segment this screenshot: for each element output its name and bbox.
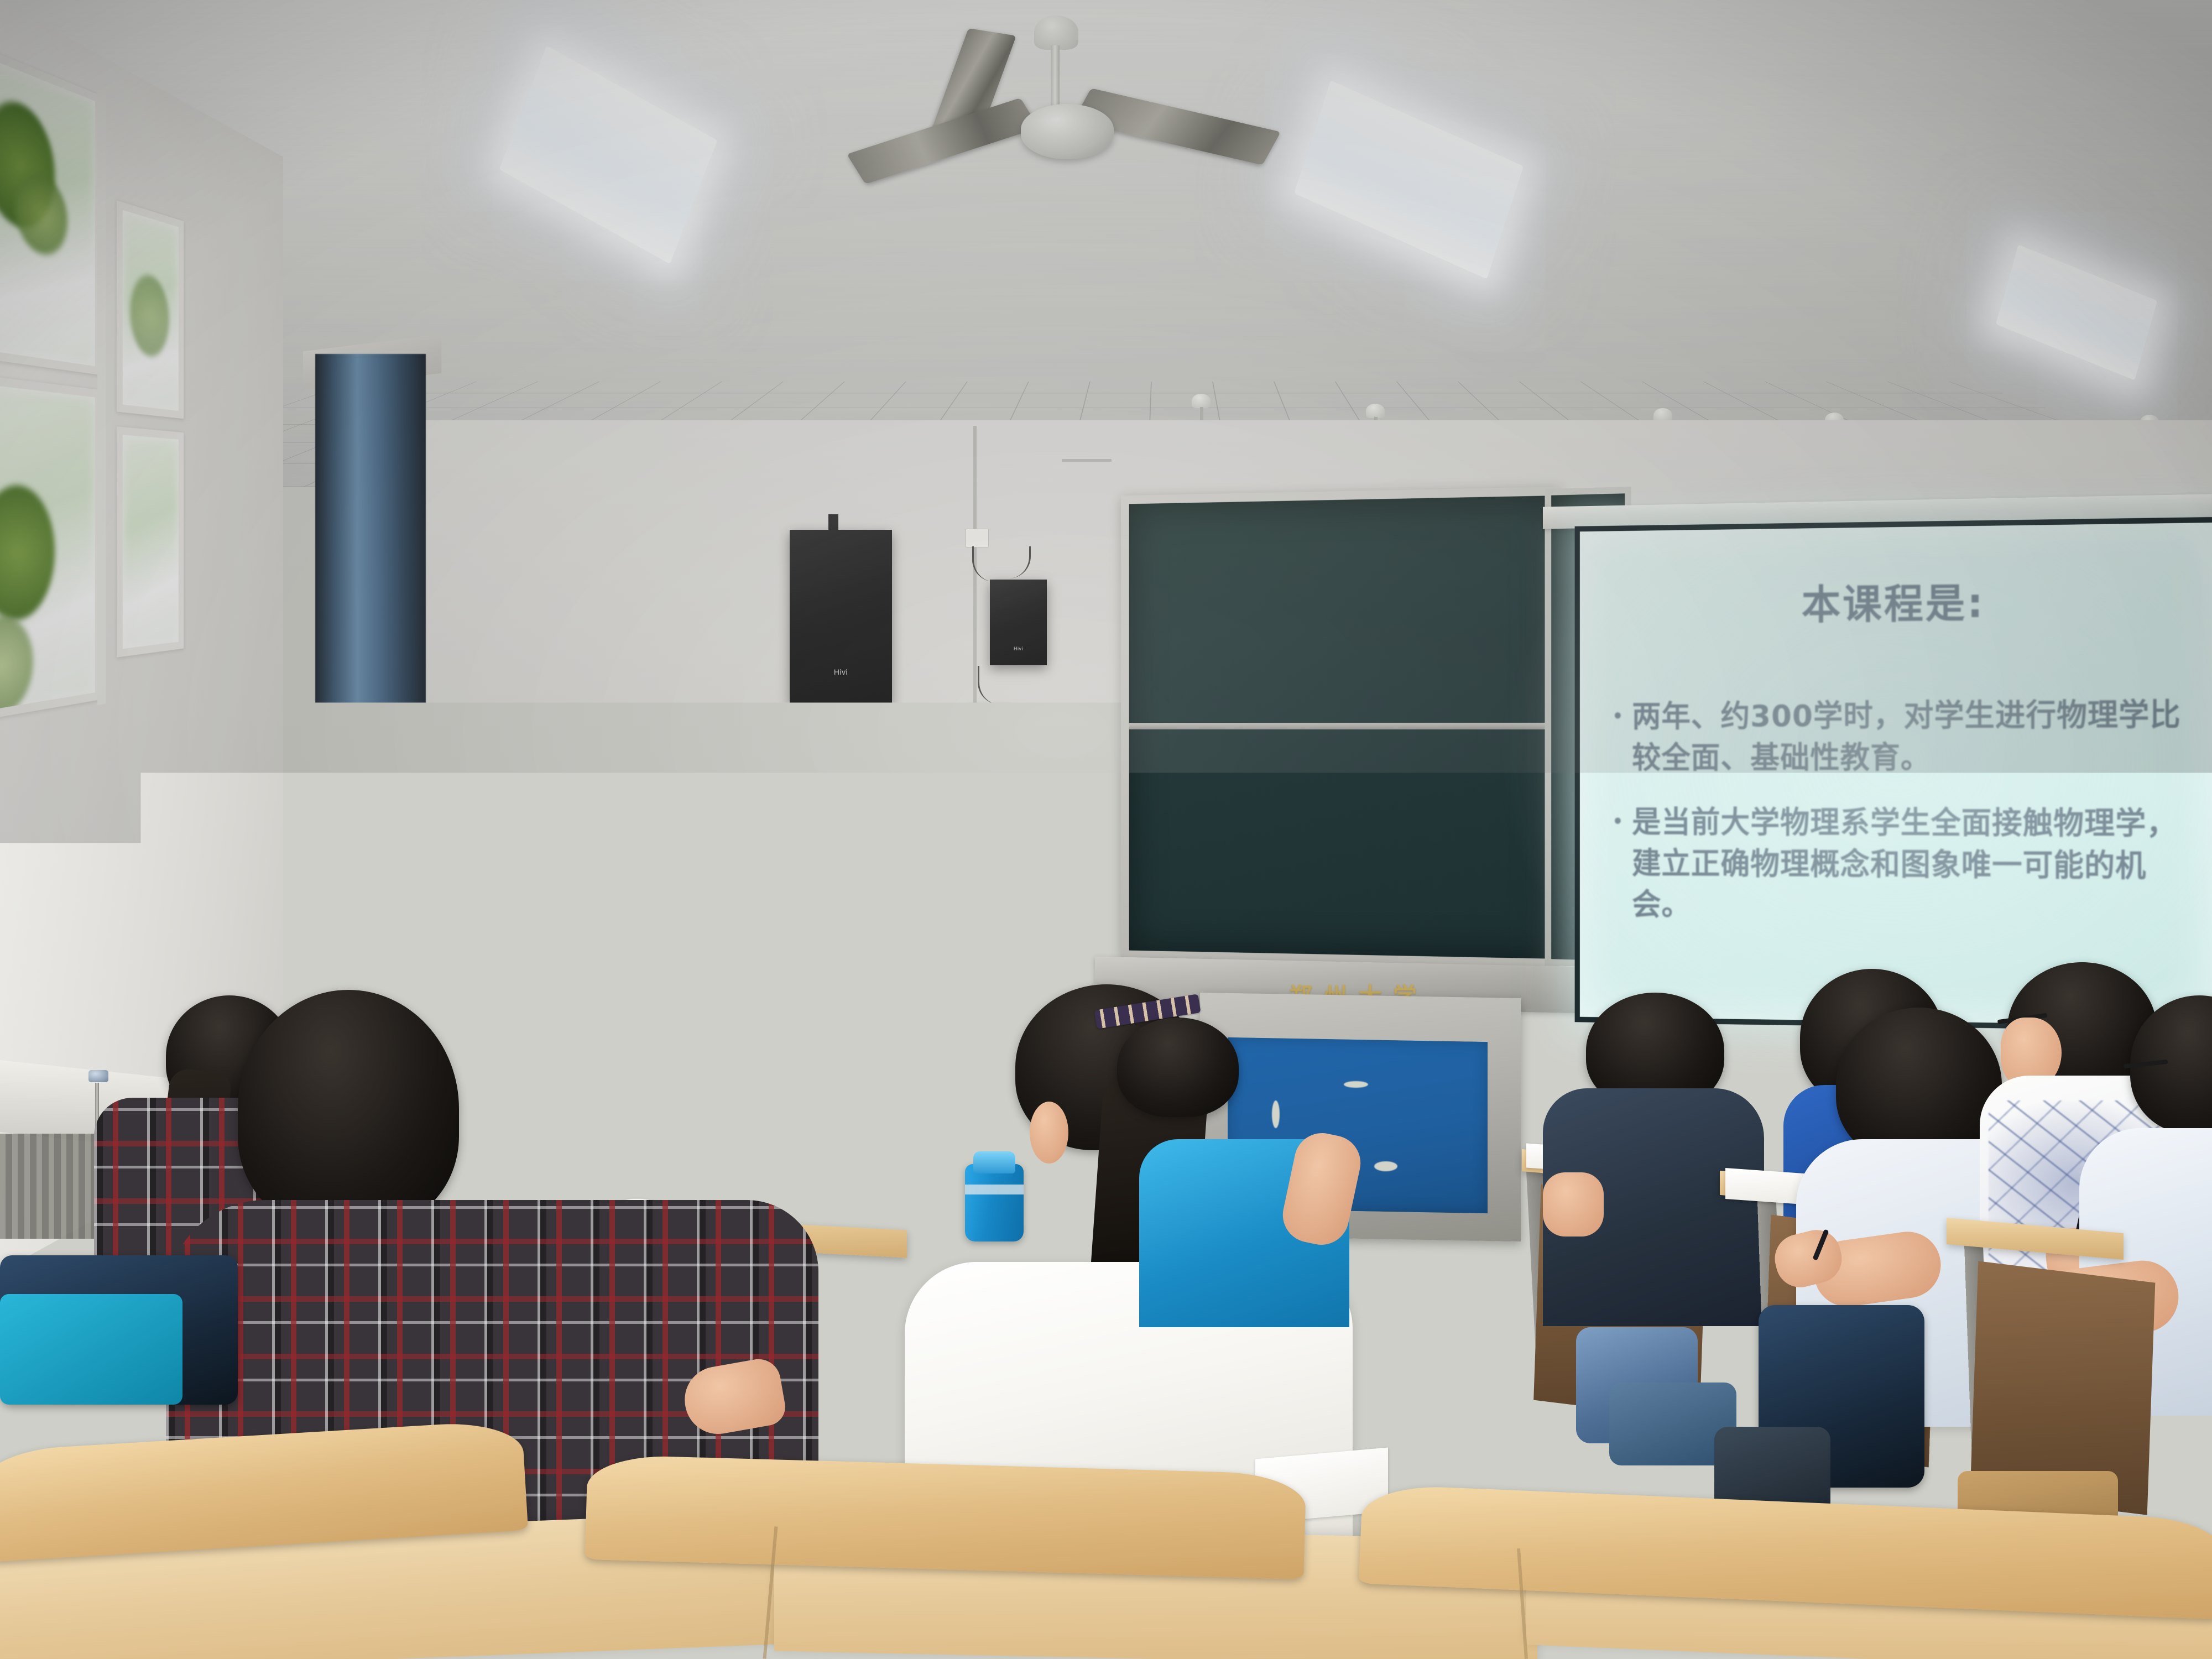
wall-speaker-small: Hivi — [990, 580, 1047, 665]
paint-scuff — [1272, 1100, 1280, 1128]
wall-seam — [1062, 459, 1112, 462]
student-navy-polo-arm — [1543, 1172, 1604, 1237]
chalkboard-surface — [1129, 495, 1551, 958]
shirt-placket — [685, 937, 689, 1067]
power-outlet[interactable] — [966, 529, 989, 547]
paint-scuff — [1344, 1081, 1368, 1088]
lecturer-eyebrow — [662, 863, 679, 866]
window-lower-left — [0, 374, 101, 723]
wall-speaker-large: Hivi — [790, 530, 892, 704]
student-blue-tee-hair — [1117, 1018, 1239, 1117]
shirt-button — [684, 993, 690, 1000]
ceiling-mount-bell — [1192, 394, 1211, 408]
window-upper-left — [0, 42, 101, 375]
fan-canopy — [1034, 15, 1078, 50]
lecturer-head — [651, 834, 721, 918]
slide-bullet-text: 是当前大学物理系学生全面接触物理学，建立正确物理概念和图象唯一可能的机会。 — [1632, 801, 2183, 930]
bottle-cap-blue[interactable] — [973, 1151, 1015, 1173]
fan-motor-hub — [1021, 104, 1114, 159]
window-mullion — [97, 89, 106, 705]
projection-screen: 本课程是: • 两年、约300学时，对学生进行物理学比较全面、基础性教育。 • … — [1575, 517, 2212, 1031]
ceiling-fan — [885, 6, 1283, 199]
window-curtain[interactable] — [315, 354, 426, 1034]
slide-bullet-text: 两年、约300学时，对学生进行物理学比较全面、基础性教育。 — [1632, 693, 2183, 779]
slide-bullet-item: • 两年、约300学时，对学生进行物理学比较全面、基础性教育。 — [1611, 693, 2183, 779]
power-outlet[interactable] — [924, 796, 946, 814]
lecturer — [603, 817, 785, 1066]
lecturer-eye — [696, 870, 708, 875]
bottle-cap[interactable] — [541, 967, 560, 981]
chair-backrest[interactable] — [585, 1454, 1307, 1579]
control-box-display — [973, 713, 1005, 725]
notebook-page[interactable] — [1266, 1432, 1421, 1499]
window-wall — [0, 33, 206, 1006]
bullet-icon: • — [1611, 706, 1624, 727]
lecturer-ear — [717, 868, 729, 887]
slide-bullet-list: • 两年、约300学时，对学生进行物理学比较全面、基础性教育。 • 是当前大学物… — [1611, 693, 2183, 930]
speaker-brand-label: Hivi — [834, 667, 848, 676]
slide-bullet-item: • 是当前大学物理系学生全面接触物理学，建立正确物理概念和图象唯一可能的机会。 — [1611, 801, 2183, 930]
water-bottle-blue[interactable] — [965, 1164, 1024, 1241]
shirt-button — [684, 1021, 690, 1027]
backpack-teal[interactable] — [0, 1294, 182, 1405]
wristwatch — [738, 1031, 750, 1047]
lecturer-ear — [645, 868, 657, 887]
student-ear — [1030, 1102, 1068, 1164]
bottle-label — [538, 995, 563, 1027]
lecturer-eye — [665, 872, 677, 877]
bullet-icon: • — [1611, 811, 1624, 832]
slide-title: 本课程是: — [1611, 568, 2183, 632]
chalkboard-divider — [1129, 723, 1551, 729]
lecturer-mouth — [678, 895, 698, 902]
ceiling-mount-bell — [1366, 404, 1385, 418]
student-plaid-foreground-hair — [238, 990, 459, 1228]
chalkboard — [1121, 487, 1559, 968]
fan-downrod — [1051, 45, 1060, 112]
shirt-button — [684, 1048, 690, 1055]
speaker-brand-label: Hivi — [1014, 646, 1023, 651]
power-outlet[interactable] — [966, 799, 985, 815]
classroom-photo: 郑州大学 本课程是: • 两年、约300学时，对学生进行物理学比较全面、基础性教… — [0, 0, 2212, 1659]
paint-scuff — [1374, 1161, 1397, 1171]
window-upper-right — [117, 200, 184, 419]
power-cable — [936, 734, 954, 796]
shirt-button — [684, 966, 690, 972]
microphone-base — [567, 1026, 608, 1040]
slide-content: 本课程是: • 两年、约300学时，对学生进行物理学比较全面、基础性教育。 • … — [1580, 523, 2212, 1026]
window-lower-right — [117, 426, 184, 658]
radiator-valve[interactable] — [88, 1070, 108, 1082]
lecturer-eyebrow — [693, 862, 710, 865]
bottle-band — [965, 1185, 1024, 1194]
electrical-control-box[interactable] — [969, 703, 1011, 754]
